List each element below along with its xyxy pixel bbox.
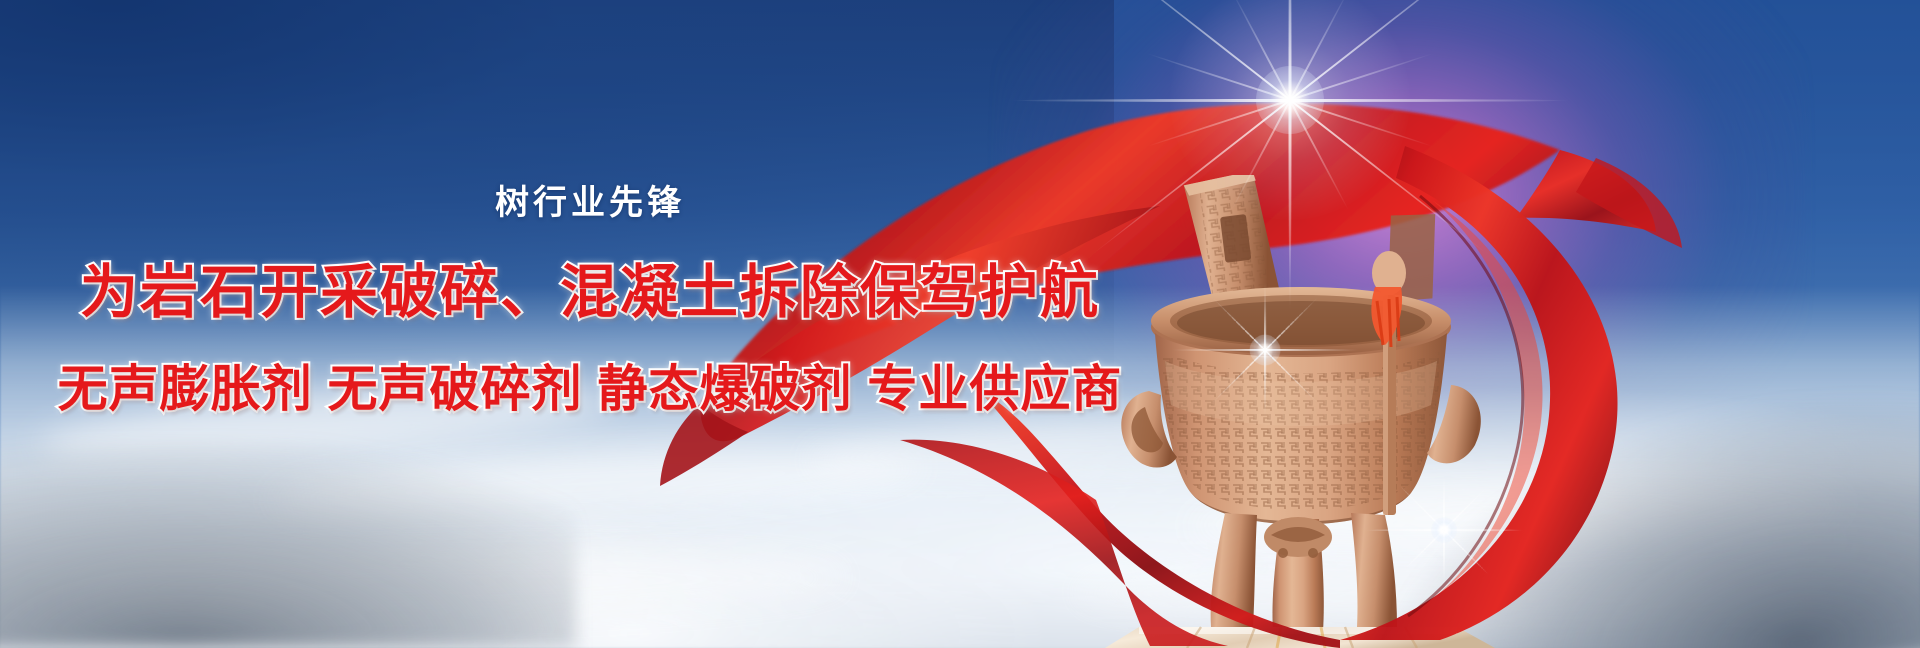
headline-tagline: 无声膨胀剂 无声破碎剂 静态爆破剂 专业供应商 — [0, 364, 1180, 414]
banner-copy: 树行业先锋 为岩石开采破碎、混凝土拆除保驾护航 无声膨胀剂 无声破碎剂 静态爆破… — [0, 186, 1180, 414]
starburst-core — [1256, 66, 1324, 134]
sparkle-core — [1431, 517, 1457, 543]
sparkle-core — [1250, 335, 1281, 366]
promo-banner: 树行业先锋 为岩石开采破碎、混凝土拆除保驾护航 无声膨胀剂 无声破碎剂 静态爆破… — [0, 0, 1920, 648]
headline-subtitle: 树行业先锋 — [0, 186, 1180, 220]
headline-main: 为岩石开采破碎、混凝土拆除保驾护航 — [0, 264, 1180, 322]
